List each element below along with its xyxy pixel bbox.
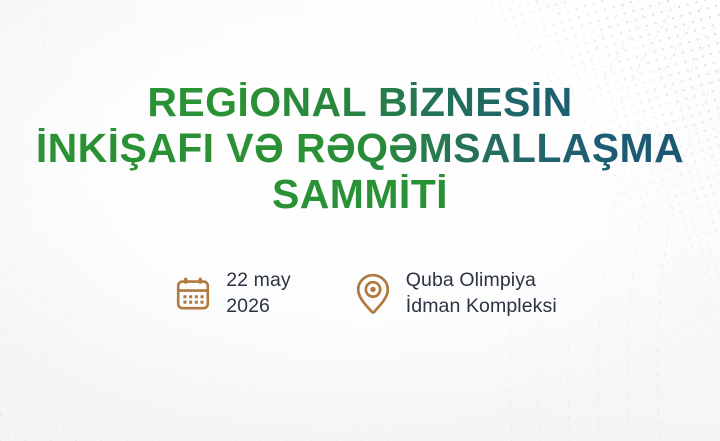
title-line-3: SAMMİTİ [0,174,720,220]
location-pin-icon [353,273,393,315]
event-details-row: 22 may 2026 Quba Olimpiya İdman Kompleks… [0,268,720,319]
event-venue-line-1: Quba Olimpiya [406,268,557,294]
event-venue: Quba Olimpiya İdman Kompleksi [353,268,557,319]
event-title: REGİONAL BİZNESİN İNKİŞAFI VƏ RƏQƏMSALLA… [0,82,720,220]
calendar-icon [173,273,213,315]
event-date: 22 may 2026 [173,268,291,319]
event-banner: REGİONAL BİZNESİN İNKİŞAFI VƏ RƏQƏMSALLA… [0,0,720,441]
event-date-line-1: 22 may [226,268,291,294]
event-date-text: 22 may 2026 [226,268,291,319]
event-date-line-2: 2026 [226,294,291,320]
event-venue-line-2: İdman Kompleksi [406,294,557,320]
title-line-1: REGİONAL BİZNESİN [0,82,720,128]
title-line-2: İNKİŞAFI VƏ RƏQƏMSALLAŞMA [0,128,720,174]
event-venue-text: Quba Olimpiya İdman Kompleksi [406,268,557,319]
banner-content: REGİONAL BİZNESİN İNKİŞAFI VƏ RƏQƏMSALLA… [0,0,720,441]
